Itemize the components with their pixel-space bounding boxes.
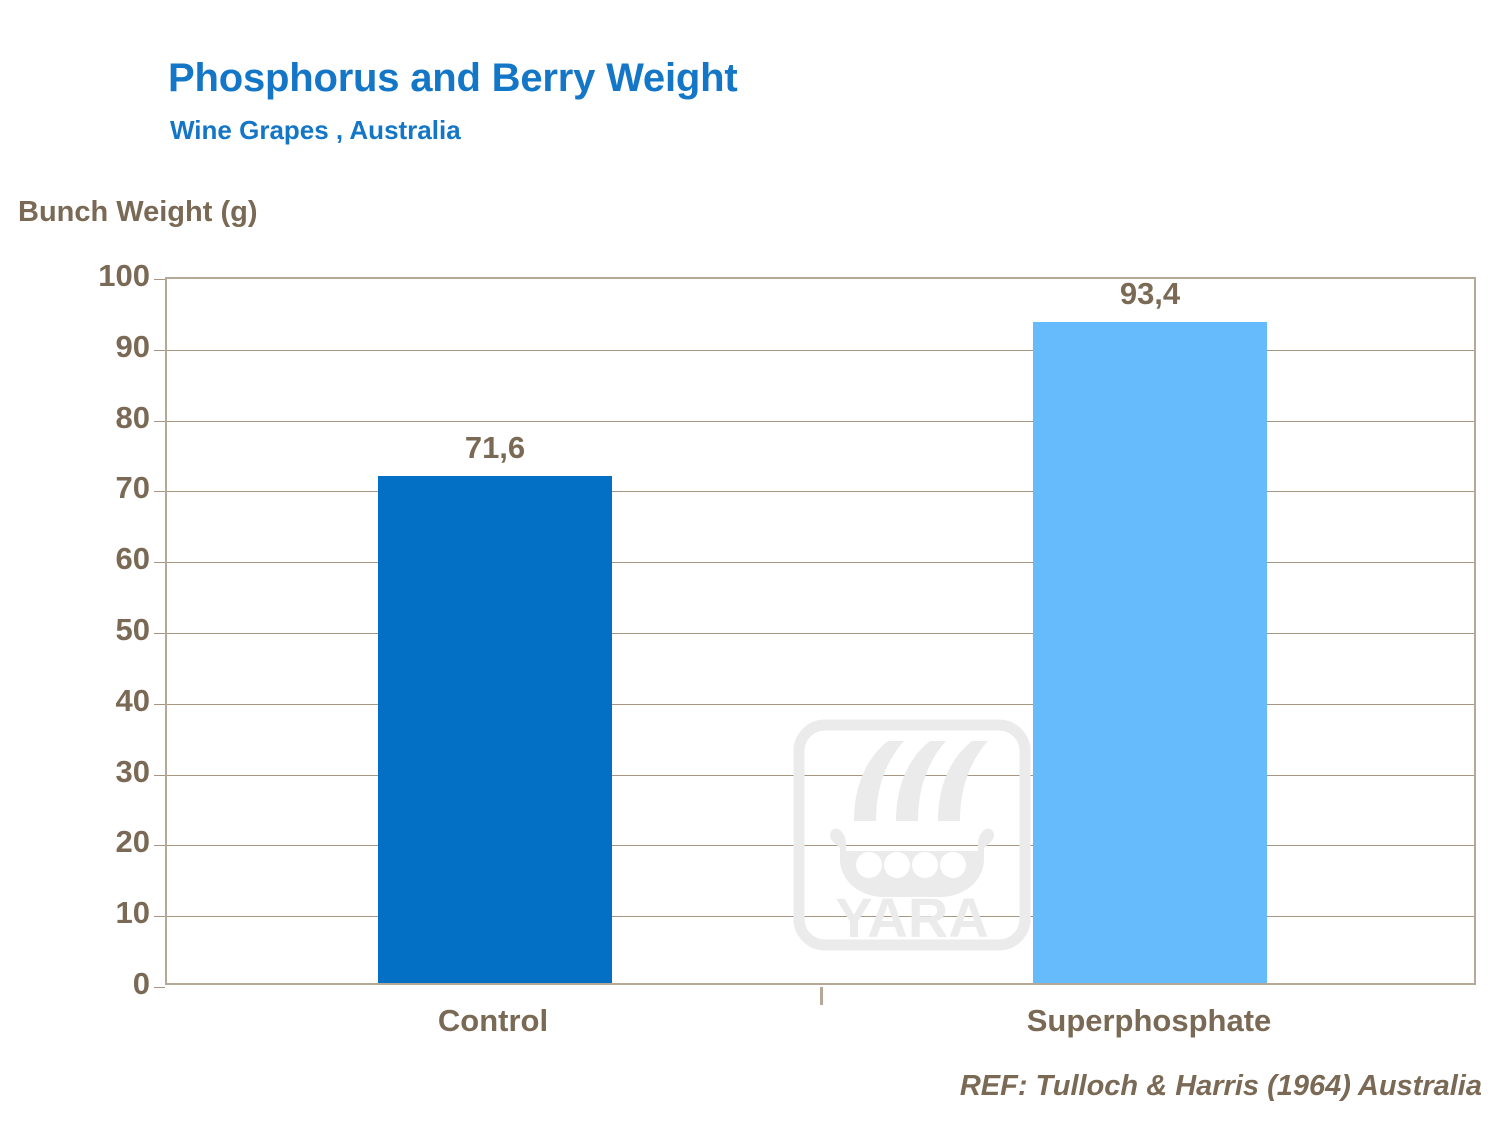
gridline [167, 562, 1474, 563]
x-axis-label-superphosphate: Superphosphate [821, 1003, 1477, 1039]
y-axis-tick [154, 775, 165, 776]
y-axis-tick [154, 845, 165, 846]
y-axis-tick-label: 10 [40, 897, 150, 928]
y-axis-tick-label: 100 [40, 260, 150, 291]
y-axis-tick-label: 80 [40, 402, 150, 433]
y-axis-tick [154, 491, 165, 492]
y-axis-title: Bunch Weight (g) [18, 196, 257, 229]
gridline [167, 350, 1474, 351]
y-axis-tick-label: 90 [40, 331, 150, 362]
gridline [167, 421, 1474, 422]
y-axis-tick [154, 562, 165, 563]
watermark-brand-text: YARA [835, 886, 989, 949]
y-axis-tick-label: 40 [40, 685, 150, 716]
y-axis-tick [154, 987, 165, 988]
x-axis-label-control: Control [165, 1003, 821, 1039]
y-axis-tick-label: 0 [40, 968, 150, 999]
y-axis-tick-label: 50 [40, 614, 150, 645]
y-axis-tick [154, 279, 165, 280]
gridline [167, 845, 1474, 846]
bar-control[interactable] [378, 476, 612, 983]
y-axis-tick-label: 20 [40, 826, 150, 857]
y-axis-tick [154, 421, 165, 422]
plot-area: 71,693,4 YARA [165, 277, 1476, 985]
y-axis-tick-label: 30 [40, 756, 150, 787]
gridline [167, 704, 1474, 705]
y-axis-tick [154, 350, 165, 351]
reference-note: REF: Tulloch & Harris (1964) Australia [960, 1070, 1482, 1103]
y-axis-tick [154, 704, 165, 705]
bar-superphosphate[interactable] [1033, 322, 1267, 983]
gridline [167, 491, 1474, 492]
gridline [167, 633, 1474, 634]
bar-value-label: 93,4 [1033, 276, 1267, 312]
y-axis-tick-label: 70 [40, 472, 150, 503]
gridline [167, 775, 1474, 776]
chart-title: Phosphorus and Berry Weight [168, 56, 737, 101]
bar-value-label: 71,6 [378, 430, 612, 466]
y-axis-tick-label: 60 [40, 543, 150, 574]
gridline [167, 916, 1474, 917]
y-axis-tick [154, 633, 165, 634]
y-axis-tick-labels: 1009080706050403020100 [30, 277, 150, 985]
chart-subtitle: Wine Grapes , Australia [170, 115, 461, 146]
y-axis-tick [154, 916, 165, 917]
